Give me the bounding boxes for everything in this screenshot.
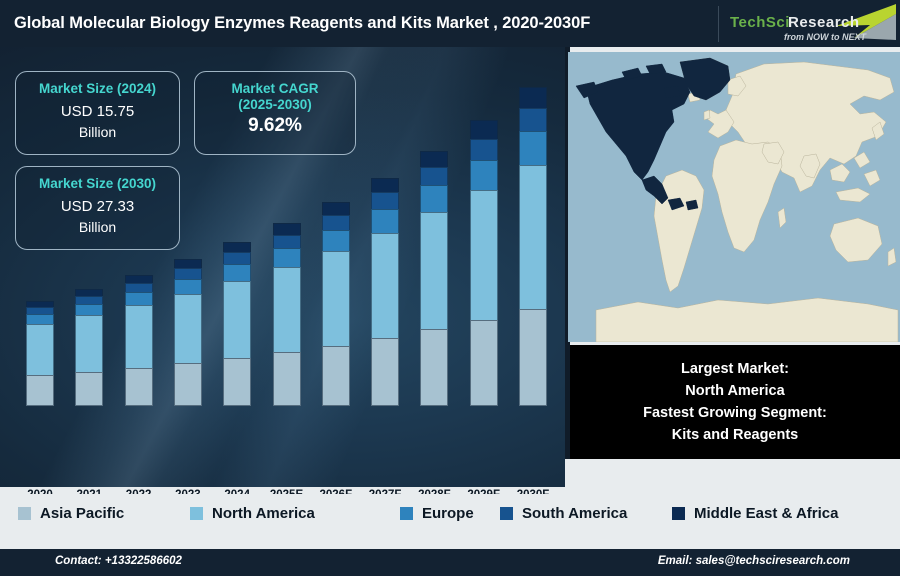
bar-2030F[interactable] [519, 83, 547, 406]
legend-item-europe[interactable]: Europe [400, 505, 474, 522]
bar-segment-europe[interactable] [125, 292, 153, 306]
bar-segment-middle-east-africa[interactable] [322, 202, 350, 216]
bar-segment-middle-east-africa[interactable] [470, 120, 498, 140]
bar-segment-north-america[interactable] [125, 305, 153, 368]
bar-segment-north-america[interactable] [420, 212, 448, 330]
bar-segment-europe[interactable] [223, 264, 251, 282]
header-bar: Global Molecular Biology Enzymes Reagent… [0, 0, 900, 47]
stat-card-market-cagr: Market CAGR (2025-2030) 9.62% [194, 71, 356, 155]
infographic-root: Global Molecular Biology Enzymes Reagent… [0, 0, 900, 576]
svg-text:TechSci: TechSci [730, 14, 790, 31]
legend-swatch-icon [190, 507, 203, 520]
stat-card-unit: Billion [16, 217, 179, 237]
footer-email: Email: sales@techsciresearch.com [658, 555, 850, 567]
chart-legend: Asia PacificNorth AmericaEuropeSouth Ame… [0, 494, 900, 532]
bar-segment-north-america[interactable] [223, 281, 251, 359]
bar-segment-asia-pacific[interactable] [125, 368, 153, 406]
legend-swatch-icon [672, 507, 685, 520]
bar-segment-south-america[interactable] [420, 167, 448, 186]
bar-segment-south-america[interactable] [322, 215, 350, 231]
bar-2020[interactable] [26, 297, 54, 406]
market-highlights-box: Largest Market: North America Fastest Gr… [570, 345, 900, 459]
right-bottom-filler [565, 459, 900, 487]
bar-segment-middle-east-africa[interactable] [420, 151, 448, 168]
stat-card-market-size-2030: Market Size (2030) USD 27.33 Billion [15, 166, 180, 250]
stat-card-market-size-2024: Market Size (2024) USD 15.75 Billion [15, 71, 180, 155]
bar-segment-north-america[interactable] [273, 267, 301, 353]
bar-segment-asia-pacific[interactable] [371, 338, 399, 406]
bar-segment-south-america[interactable] [470, 139, 498, 161]
legend-label: Europe [422, 505, 474, 522]
bar-segment-europe[interactable] [174, 279, 202, 295]
bar-segment-asia-pacific[interactable] [519, 309, 547, 406]
info-line: North America [685, 380, 784, 402]
legend-item-north-america[interactable]: North America [190, 505, 315, 522]
bar-segment-north-america[interactable] [75, 315, 103, 372]
bar-segment-south-america[interactable] [519, 108, 547, 132]
stat-card-unit: Billion [16, 122, 179, 142]
bar-segment-north-america[interactable] [371, 233, 399, 339]
legend-label: North America [212, 505, 315, 522]
bar-2026F[interactable] [322, 198, 350, 406]
stat-card-title: Market Size (2024) [16, 81, 179, 97]
footer-contact: Contact: +13322586602 [55, 555, 182, 567]
legend-swatch-icon [18, 507, 31, 520]
bar-2022[interactable] [125, 271, 153, 406]
stat-card-value: USD 27.33 [16, 196, 179, 217]
bar-segment-south-america[interactable] [371, 192, 399, 210]
bar-segment-asia-pacific[interactable] [26, 375, 54, 406]
bar-segment-europe[interactable] [470, 160, 498, 191]
bar-segment-middle-east-africa[interactable] [519, 87, 547, 109]
bar-segment-north-america[interactable] [322, 251, 350, 347]
bar-segment-europe[interactable] [519, 131, 547, 165]
bar-segment-asia-pacific[interactable] [174, 363, 202, 406]
bar-2027F[interactable] [371, 174, 399, 406]
bar-2029F[interactable] [470, 116, 498, 406]
bar-2021[interactable] [75, 285, 103, 406]
bar-segment-europe[interactable] [322, 230, 350, 252]
bar-segment-north-america[interactable] [26, 324, 54, 376]
bar-segment-north-america[interactable] [519, 165, 547, 310]
info-line: Largest Market: [681, 358, 789, 380]
bar-segment-europe[interactable] [420, 185, 448, 213]
bar-segment-north-america[interactable] [174, 294, 202, 364]
footer-bar: Contact: +13322586602 Email: sales@techs… [0, 549, 900, 576]
legend-swatch-icon [400, 507, 413, 520]
stat-card-value: USD 15.75 [16, 101, 179, 122]
legend-item-south-america[interactable]: South America [500, 505, 627, 522]
world-map [568, 52, 900, 342]
stat-card-subtitle: (2025-2030) [195, 97, 355, 113]
bar-segment-asia-pacific[interactable] [322, 346, 350, 406]
legend-item-asia-pacific[interactable]: Asia Pacific [18, 505, 124, 522]
stat-card-title: Market CAGR [195, 81, 355, 97]
bar-segment-europe[interactable] [273, 248, 301, 268]
bar-segment-asia-pacific[interactable] [273, 352, 301, 406]
bar-2028F[interactable] [420, 147, 448, 406]
svg-text:Research: Research [788, 14, 860, 31]
legend-swatch-icon [500, 507, 513, 520]
bar-2025E[interactable] [273, 219, 301, 406]
bar-segment-south-america[interactable] [273, 235, 301, 249]
page-title: Global Molecular Biology Enzymes Reagent… [14, 14, 590, 33]
bar-segment-europe[interactable] [371, 209, 399, 234]
bar-segment-asia-pacific[interactable] [223, 358, 251, 406]
legend-label: Middle East & Africa [694, 505, 838, 522]
bar-2023[interactable] [174, 255, 202, 406]
info-line: Kits and Reagents [672, 424, 799, 446]
bar-segment-middle-east-africa[interactable] [371, 178, 399, 193]
bar-segment-asia-pacific[interactable] [75, 372, 103, 406]
legend-label: Asia Pacific [40, 505, 124, 522]
info-line: Fastest Growing Segment: [643, 402, 827, 424]
svg-text:from NOW to NEXT: from NOW to NEXT [784, 32, 867, 42]
stat-card-title: Market Size (2030) [16, 176, 179, 192]
bar-segment-asia-pacific[interactable] [470, 320, 498, 406]
legend-label: South America [522, 505, 627, 522]
stat-card-value: 9.62% [195, 115, 355, 136]
legend-item-middle-east-africa[interactable]: Middle East & Africa [672, 505, 838, 522]
bar-segment-asia-pacific[interactable] [420, 329, 448, 406]
bar-segment-north-america[interactable] [470, 190, 498, 321]
bar-2024[interactable] [223, 238, 251, 406]
techsci-research-logo[interactable]: TechSci Research from NOW to NEXT [718, 0, 900, 47]
